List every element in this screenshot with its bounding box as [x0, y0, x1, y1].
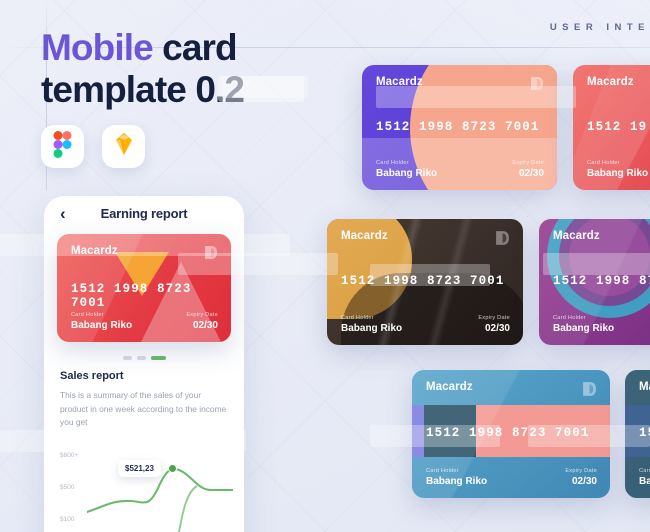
watermark-bar — [0, 430, 246, 452]
card-brand: Macardz — [587, 76, 634, 88]
page-title-accent: Mobile — [41, 27, 153, 68]
watermark-bar — [376, 86, 576, 108]
sketch-badge[interactable] — [102, 125, 145, 168]
card-number: 1512 1998 8723 7001 — [376, 120, 545, 134]
card-holder-group: Card Holder Babang Riko — [639, 468, 650, 487]
card-holder-label: Card Holder — [71, 312, 132, 318]
card-holder-group: Card Holder Babang Riko — [341, 315, 402, 334]
card-purple-peach[interactable]: Macardz 1512 1998 8723 7001 Card Holder … — [362, 65, 557, 190]
section-title: Sales report — [60, 370, 228, 382]
card-holder-label: Card Holder — [341, 315, 402, 321]
card-expiry-group: Expiry Date 02/30 — [478, 315, 510, 334]
card-number: 1512 1998 8723 7001 — [553, 274, 650, 288]
card-holder-value: Babang Riko — [341, 323, 402, 334]
card-footer: Card Holder Babang Riko — [553, 315, 650, 334]
card-logo-icon — [494, 230, 510, 251]
card-expiry-value: 02/30 — [565, 476, 597, 487]
card-expiry-value: 02/30 — [478, 323, 510, 334]
canvas: USER INTE Mobile card template 0.2 — [0, 0, 650, 532]
page-title-rest: card — [153, 27, 237, 68]
card-number: 1512 19 — [587, 120, 650, 134]
card-holder-label: Card Holder — [639, 468, 650, 474]
watermark-bar — [178, 253, 338, 275]
card-expiry-label: Expiry Date — [512, 160, 544, 166]
y-tick-label: $500 — [60, 484, 74, 491]
chart-tooltip: $521,23 — [118, 460, 161, 477]
card-expiry-label: Expiry Date — [478, 315, 510, 321]
card-expiry-value: 02/30 — [186, 320, 218, 331]
sketch-icon — [111, 132, 137, 161]
card-holder-label: Card Holder — [426, 468, 487, 474]
card-brand: Macardz — [553, 230, 600, 242]
card-holder-label: Card Holder — [553, 315, 614, 321]
watermark-bar — [370, 425, 500, 447]
card-red-edge[interactable]: Macardz 1512 19 Card Holder Babang Riko — [573, 65, 650, 190]
card-holder-group: Card Holder Babang Riko — [553, 315, 614, 334]
card-brand: Macardz — [341, 230, 388, 242]
card-expiry-label: Expiry Date — [186, 312, 218, 318]
card-holder-group: Card Holder Babang Riko — [587, 160, 648, 179]
watermark-bar — [222, 76, 308, 98]
card-holder-group: Card Holder Babang Riko — [376, 160, 437, 179]
card-holder-group: Card Holder Babang Riko — [71, 312, 132, 331]
figma-icon — [53, 131, 72, 163]
card-footer: Card Holder Babang Riko Expiry Date 02/3… — [341, 315, 510, 334]
card-expiry-label: Expiry Date — [565, 468, 597, 474]
y-tick-label: $800+ — [60, 452, 78, 459]
card-expiry-group: Expiry Date 02/30 — [512, 160, 544, 179]
pager-dash[interactable] — [123, 356, 132, 360]
screen-title: Earning report — [44, 206, 244, 221]
chart-line — [87, 446, 233, 532]
card-expiry-value: 02/30 — [512, 168, 544, 179]
card-expiry-group: Expiry Date 02/30 — [565, 468, 597, 487]
card-holder-group: Card Holder Babang Riko — [426, 468, 487, 487]
card-holder-value: Babang Riko — [587, 168, 648, 179]
card-footer: Card Holder Babang Riko Expiry Date 02/3… — [376, 160, 544, 179]
phone-header: ‹ Earning report — [44, 196, 244, 234]
card-footer: Card Holder Babang Riko Expiry Date 02/3… — [71, 312, 218, 331]
card-footer: Card Holder Babang Riko — [639, 468, 650, 487]
section-description: This is a summary of the sales of your p… — [60, 389, 228, 430]
watermark-bar — [528, 425, 650, 447]
page-title-line2: template 0.2 — [41, 69, 244, 110]
card-holder-value: Babang Riko — [376, 168, 437, 179]
card-holder-label: Card Holder — [376, 160, 437, 166]
card-footer: Card Holder Babang Riko — [587, 160, 650, 179]
watermark-bar — [543, 253, 650, 275]
card-holder-label: Card Holder — [587, 160, 648, 166]
card-holder-value: Babang Riko — [553, 323, 614, 334]
corner-label: USER INTE — [550, 22, 650, 33]
card-holder-value: Babang Riko — [639, 476, 650, 487]
card-magenta-rings[interactable]: Macardz 1512 1998 8723 7001 Card Holder … — [539, 219, 650, 345]
tool-badges — [41, 125, 145, 168]
card-brand: Macardz — [639, 381, 650, 393]
card-expiry-group: Expiry Date 02/30 — [186, 312, 218, 331]
card-number: 1512 1998 8723 7001 — [71, 282, 219, 310]
pager-dash-active[interactable] — [151, 356, 166, 360]
pager-dash[interactable] — [137, 356, 146, 360]
figma-badge[interactable] — [41, 125, 84, 168]
card-logo-icon — [581, 381, 597, 402]
chart-data-point[interactable] — [168, 464, 177, 473]
card-holder-value: Babang Riko — [71, 320, 132, 331]
y-tick-label: $100 — [60, 516, 74, 523]
card-holder-value: Babang Riko — [426, 476, 487, 487]
card-footer: Card Holder Babang Riko Expiry Date 02/3… — [426, 468, 597, 487]
card-brand: Macardz — [426, 381, 473, 393]
sales-line-chart: $800+ $500 $100 $521,23 — [60, 446, 228, 532]
watermark-bar — [370, 264, 490, 286]
